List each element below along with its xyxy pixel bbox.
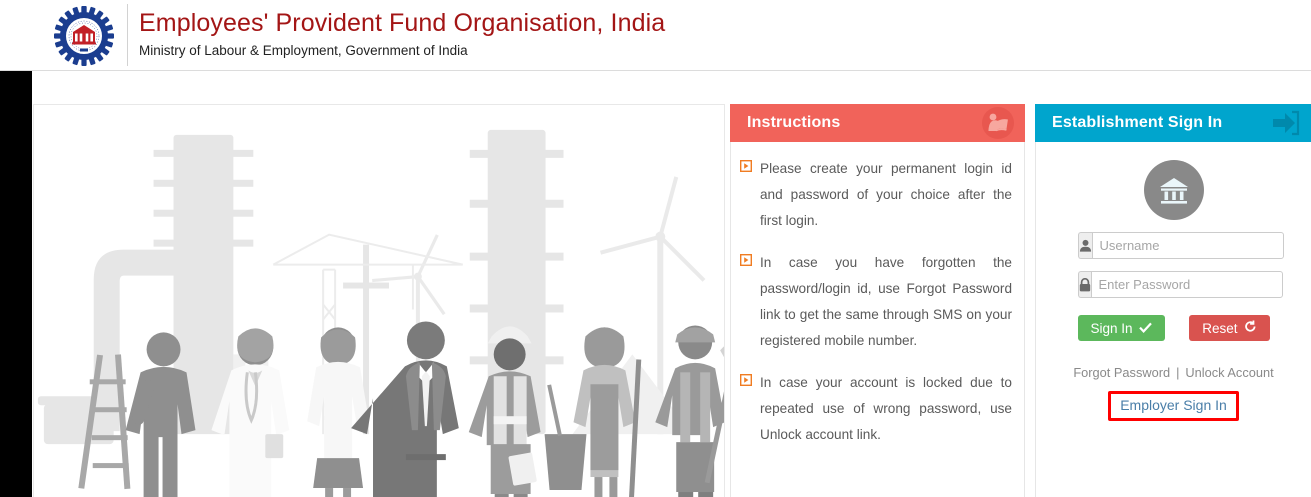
header-divider [127, 4, 128, 66]
unlock-account-link[interactable]: Unlock Account [1185, 365, 1273, 380]
list-item: In case you have forgotten the password/… [740, 250, 1012, 354]
refresh-icon [1244, 320, 1257, 336]
sign-in-button-label: Sign In [1091, 321, 1133, 336]
signin-body: Sign In Reset [1035, 142, 1311, 497]
helper-links: Forgot Password | Unlock Account [1073, 365, 1273, 380]
instructions-panel: Instructions [730, 104, 1025, 497]
epfo-logo-icon [42, 6, 126, 66]
username-input[interactable] [1092, 232, 1284, 259]
user-icon [1078, 232, 1092, 259]
password-input[interactable] [1091, 271, 1283, 298]
play-square-icon [740, 373, 752, 391]
instructions-body: Please create your permanent login id an… [730, 142, 1025, 497]
instruction-text: Please create your permanent login id an… [760, 156, 1012, 234]
bank-building-icon [1144, 160, 1204, 220]
forgot-password-link[interactable]: Forgot Password [1073, 365, 1170, 380]
employer-sign-in-link[interactable]: Employer Sign In [1120, 397, 1227, 413]
reset-button[interactable]: Reset [1189, 315, 1269, 341]
check-icon [1139, 321, 1152, 336]
signin-title: Establishment Sign In [1052, 114, 1222, 132]
signin-header: Establishment Sign In [1035, 104, 1311, 142]
instructions-title: Instructions [747, 114, 840, 132]
list-item: In case your account is locked due to re… [740, 370, 1012, 448]
establishment-signin-panel: Establishment Sign In [1035, 104, 1311, 497]
instructions-header: Instructions [730, 104, 1025, 142]
link-separator: | [1176, 365, 1179, 380]
employer-sign-in-highlight: Employer Sign In [1108, 391, 1239, 421]
instruction-text: In case your account is locked due to re… [760, 370, 1012, 448]
play-square-icon [740, 253, 752, 271]
banner-image [33, 104, 725, 497]
header-title-block: Employees' Provident Fund Organisation, … [139, 8, 665, 59]
play-square-icon [740, 159, 752, 177]
signin-button-row: Sign In Reset [1078, 315, 1270, 341]
instruction-text: In case you have forgotten the password/… [760, 250, 1012, 354]
username-field-group[interactable] [1078, 232, 1270, 259]
reading-person-icon [981, 104, 1015, 142]
password-field-group[interactable] [1078, 271, 1270, 298]
sign-in-arrow-icon [1270, 104, 1302, 142]
reset-button-label: Reset [1202, 321, 1237, 336]
content-area: Instructions [33, 71, 1311, 497]
sign-in-button[interactable]: Sign In [1078, 315, 1165, 341]
list-item: Please create your permanent login id an… [740, 156, 1012, 234]
page-root: Employees' Provident Fund Organisation, … [0, 0, 1311, 497]
left-gutter [0, 0, 32, 497]
page-title: Employees' Provident Fund Organisation, … [139, 8, 665, 38]
page-subtitle: Ministry of Labour & Employment, Governm… [139, 42, 665, 59]
lock-icon [1078, 271, 1091, 298]
site-header: Employees' Provident Fund Organisation, … [0, 0, 1311, 71]
